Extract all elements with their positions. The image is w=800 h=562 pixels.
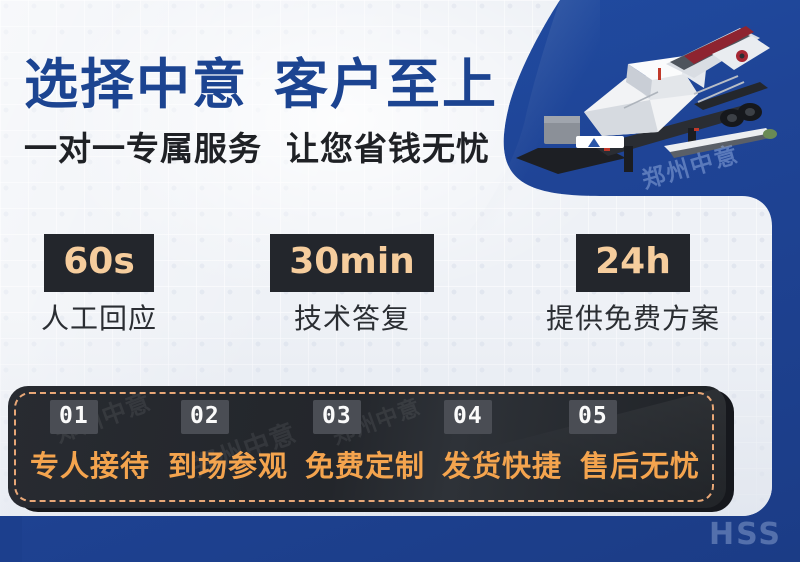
headline-part-1: 选择中意 xyxy=(24,53,248,116)
feature-label: 人工回应 xyxy=(10,304,188,335)
step-label: 免费定制 xyxy=(305,452,425,481)
feature-item: 24h 提供免费方案 xyxy=(508,234,758,335)
step-number: 05 xyxy=(569,400,617,434)
feature-label: 提供免费方案 xyxy=(508,304,758,335)
corner-watermark: HSS xyxy=(709,517,782,552)
page-subtitle: 一对一专属服务让您省钱无忧 xyxy=(24,132,490,165)
feature-item: 60s 人工回应 xyxy=(10,234,188,335)
step-number: 01 xyxy=(50,400,98,434)
step-label: 发货快捷 xyxy=(442,452,562,481)
step-number: 02 xyxy=(181,400,229,434)
feature-item: 30min 技术答复 xyxy=(258,234,446,335)
step-label: 专人接待 xyxy=(30,452,150,481)
feature-list: 60s 人工回应 30min 技术答复 24h 提供免费方案 xyxy=(0,234,772,344)
feature-value-badge: 60s xyxy=(44,234,154,292)
subheadline-part-2: 让您省钱无忧 xyxy=(286,129,490,168)
promo-banner: 郑州中意 选择中意客户至上 一对一专属服务让您省钱无忧 60s 人工回应 30m… xyxy=(0,0,800,562)
step-number: 04 xyxy=(444,400,492,434)
page-title: 选择中意客户至上 xyxy=(24,58,498,112)
headline-part-2: 客户至上 xyxy=(274,53,498,116)
step-label: 售后无忧 xyxy=(580,452,700,481)
subheadline-part-1: 一对一专属服务 xyxy=(24,129,262,168)
step-label-row: 专人接待 到场参观 免费定制 发货快捷 售后无忧 xyxy=(8,452,726,492)
feature-label: 技术答复 xyxy=(258,304,446,335)
step-number: 03 xyxy=(313,400,361,434)
machine-image xyxy=(498,8,798,208)
feature-value-badge: 24h xyxy=(576,234,690,292)
step-label: 到场参观 xyxy=(168,452,288,481)
step-number-row: 01 02 03 04 05 xyxy=(8,400,726,438)
feature-value-badge: 30min xyxy=(270,234,434,292)
